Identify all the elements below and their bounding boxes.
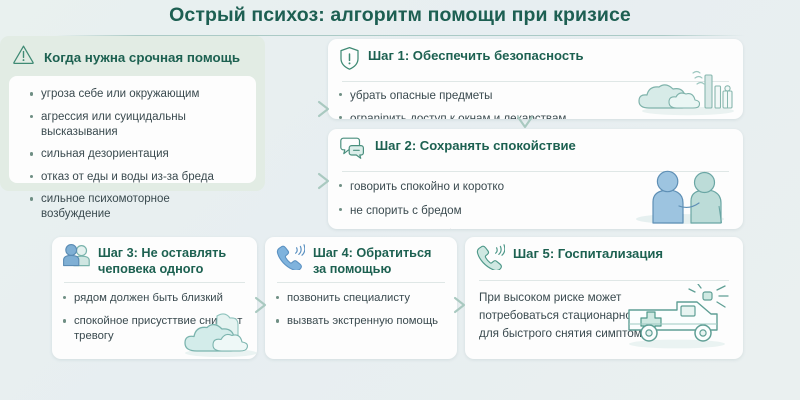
- arrow-step4-to-step5: [450, 294, 472, 321]
- list-item: сильное психомоторное возбуждение: [41, 192, 242, 222]
- two-persons-icon: [63, 244, 90, 273]
- list-item: сильная дезориентация: [41, 147, 242, 162]
- list-item: отказ от еды и воды из-за бреда: [41, 170, 242, 185]
- step-3-header: Шаг 3: Не оставлять чеповека одного: [52, 237, 257, 278]
- phone-signal-green-icon: [476, 244, 505, 275]
- step-4-bullet-list: позвонить специалисту вызвать экстренную…: [265, 283, 457, 329]
- step-3-bullet-list: рядом должен быть близкий спокойное прис…: [52, 283, 257, 344]
- step-4-header: Шаг 4: Обратиться за помощью: [265, 237, 457, 278]
- list-item: говорить спокойно и коротко: [350, 179, 733, 194]
- list-item: агрессия или суицидальны высказывания: [41, 110, 242, 140]
- step-1-card: Шаг 1: Обеспечить безопасность убрать оп…: [328, 39, 743, 119]
- arrow-urgent-to-step2: [314, 170, 336, 197]
- urgent-card-body: угроза себе или окружающим агрессия или …: [9, 76, 256, 183]
- urgent-bullet-list: угроза себе или окружающим агрессия или …: [15, 85, 250, 222]
- step-5-heading: Шаг 5: Госпитализация: [513, 244, 663, 262]
- arrow-step3-to-step4: [251, 294, 273, 321]
- step-2-heading: Шаг 2: Сохранять спокойствие: [375, 136, 576, 154]
- step-5-header: Шаг 5: Госпитализация: [465, 237, 743, 275]
- list-item: ограninить доступ к окнам и лекарствам: [350, 111, 733, 119]
- step-1-header: Шаг 1: Обеспечить безопасность: [328, 39, 743, 76]
- arrow-step1-to-step2: [514, 113, 536, 138]
- step-3-card: Шаг 3: Не оставлять чеповека одного рядо…: [52, 237, 257, 359]
- list-item: вызвать экстренную помощь: [287, 314, 449, 329]
- page-title: Острый психоз: алгоритм помощи при кризи…: [0, 0, 800, 26]
- step-2-bullet-list: говорить спокойно и коротко не спорить с…: [328, 172, 743, 229]
- step-2-card: Шаг 2: Сохранять спокойствие говорить сп…: [328, 129, 743, 229]
- step-4-heading: Шаг 4: Обратиться за помощью: [313, 244, 447, 278]
- infographic-canvas: Острый психоз: алгоритм помощи при кризи…: [0, 0, 800, 400]
- list-item: не спорить с бредом: [350, 203, 733, 218]
- list-item: рядом должен быть близкий: [74, 291, 249, 306]
- arrow-urgent-to-step1: [314, 98, 336, 125]
- phone-signal-blue-icon: [276, 244, 305, 275]
- step-1-heading: Шаг 1: Обеспечить безопасность: [368, 46, 584, 64]
- urgent-card-heading: Когда нужна срочная помощь: [44, 50, 240, 65]
- step-4-card: Шаг 4: Обратиться за помощью позвонить с…: [265, 237, 457, 359]
- list-item: угроза себе или окружающим: [41, 87, 242, 102]
- warning-triangle-icon: [12, 44, 35, 70]
- speech-bubbles-icon: [339, 136, 367, 166]
- list-item: не подтверждать бредовые идеи: [350, 227, 733, 229]
- shield-alert-icon: [339, 46, 360, 76]
- list-item: убрать опасные предметы: [350, 88, 733, 103]
- urgent-help-card: Когда нужна срочная помощь угроза себе и…: [0, 36, 265, 191]
- list-item: позвонить специалисту: [287, 291, 449, 306]
- step-5-paragraph: При высоком риске может потребоваться ст…: [465, 281, 706, 343]
- step-3-heading: Шаг 3: Не оставлять чеповека одного: [98, 244, 247, 278]
- urgent-card-header: Когда нужна срочная помощь: [0, 36, 265, 76]
- step-5-card: Шаг 5: Госпитализация При высоком риске …: [465, 237, 743, 359]
- list-item: спокойное присусттвие снижает тревогу: [74, 314, 249, 343]
